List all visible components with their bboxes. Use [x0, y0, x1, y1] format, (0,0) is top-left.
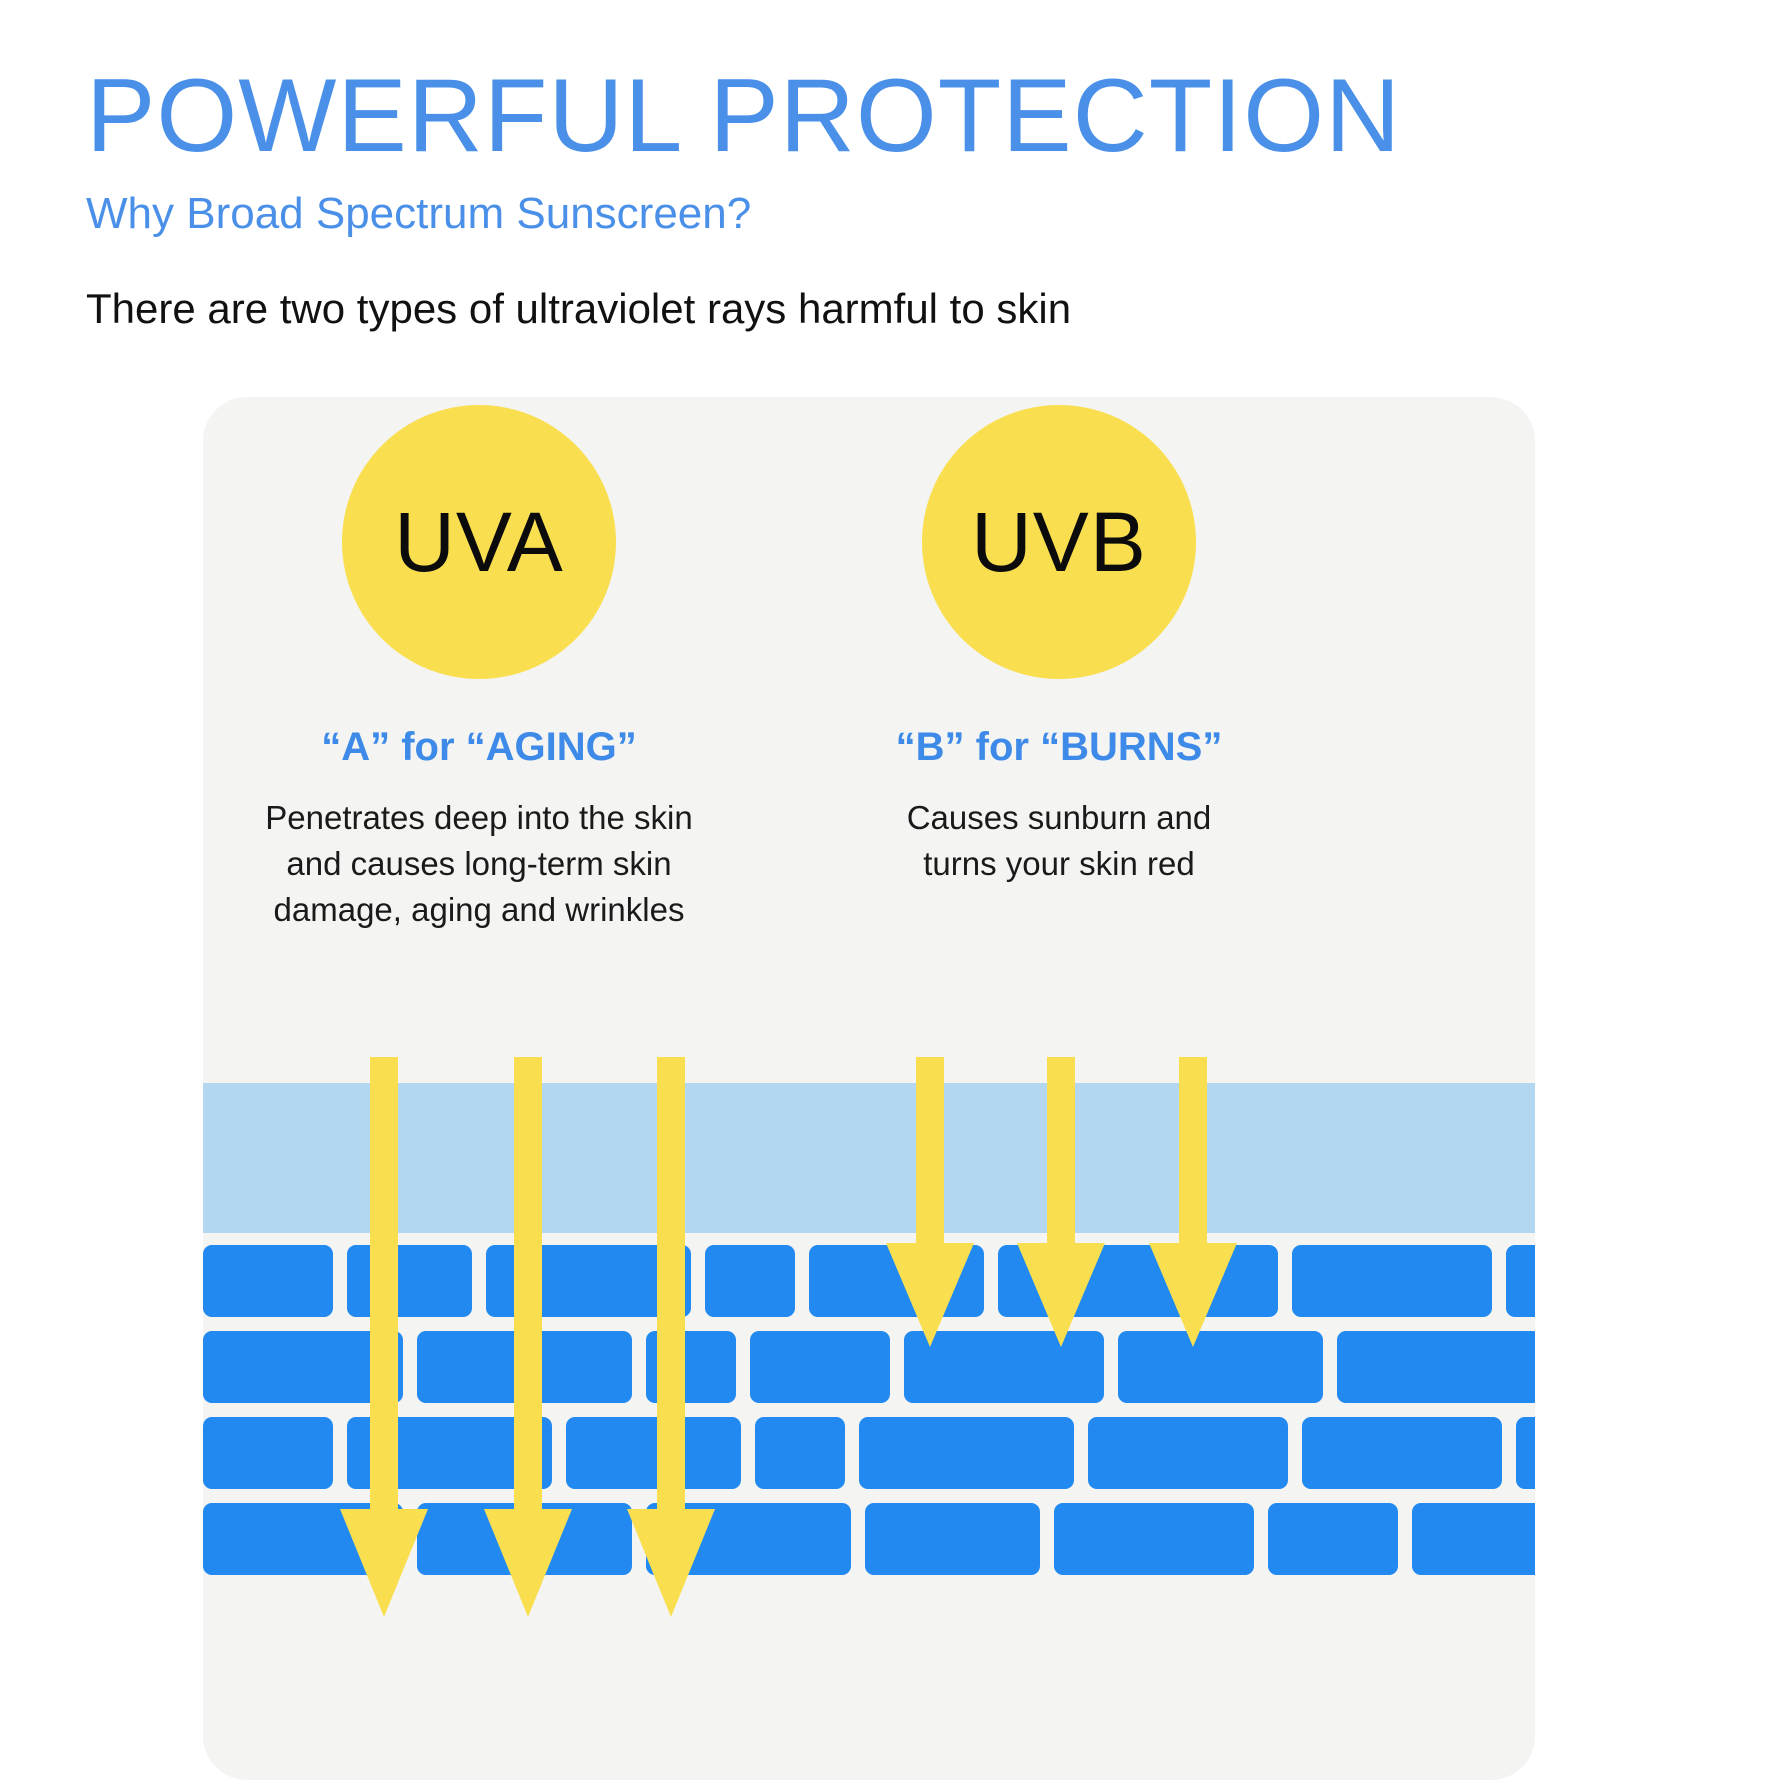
header: POWERFUL PROTECTION Why Broad Spectrum S… — [86, 62, 1586, 334]
brick — [705, 1245, 795, 1317]
column-uvb: UVB “B” for “BURNS” Causes sunburn and t… — [819, 397, 1299, 887]
brick — [1268, 1503, 1398, 1575]
brick — [1337, 1331, 1535, 1403]
brick — [1412, 1503, 1535, 1575]
uva-arrow-icon — [627, 1057, 715, 1617]
sun-icon-uva: UVA — [342, 405, 616, 679]
uva-arrow-icon — [340, 1057, 428, 1617]
body-uvb: Causes sunburn and turns your skin red — [819, 795, 1299, 887]
column-uva: UVA “A” for “AGING” Penetrates deep into… — [239, 397, 719, 933]
brick — [1088, 1417, 1288, 1489]
sun-label-uva: UVA — [394, 500, 563, 584]
brick — [1292, 1245, 1492, 1317]
brick — [859, 1417, 1074, 1489]
uva-arrow-icon — [484, 1057, 572, 1617]
uvb-arrow-icon — [886, 1057, 974, 1347]
brick — [203, 1417, 333, 1489]
brick — [865, 1503, 1040, 1575]
uvb-arrow-icon — [1017, 1057, 1105, 1347]
sun-label-uvb: UVB — [971, 500, 1147, 584]
heading-uva: “A” for “AGING” — [239, 723, 719, 771]
brick — [203, 1245, 333, 1317]
body-uva: Penetrates deep into the skin and causes… — [239, 795, 719, 933]
intro-text: There are two types of ultraviolet rays … — [86, 284, 1586, 334]
brick — [1506, 1245, 1535, 1317]
page-subtitle: Why Broad Spectrum Sunscreen? — [86, 188, 1586, 240]
brick — [1516, 1417, 1535, 1489]
sun-icon-uvb: UVB — [922, 405, 1196, 679]
diagram-card: UVA “A” for “AGING” Penetrates deep into… — [203, 397, 1535, 1780]
uvb-arrow-icon — [1149, 1057, 1237, 1347]
brick — [750, 1331, 890, 1403]
brick — [755, 1417, 845, 1489]
page-title: POWERFUL PROTECTION — [86, 62, 1586, 170]
brick — [1054, 1503, 1254, 1575]
infographic-page: POWERFUL PROTECTION Why Broad Spectrum S… — [0, 0, 1780, 1780]
heading-uvb: “B” for “BURNS” — [819, 723, 1299, 771]
brick — [1302, 1417, 1502, 1489]
